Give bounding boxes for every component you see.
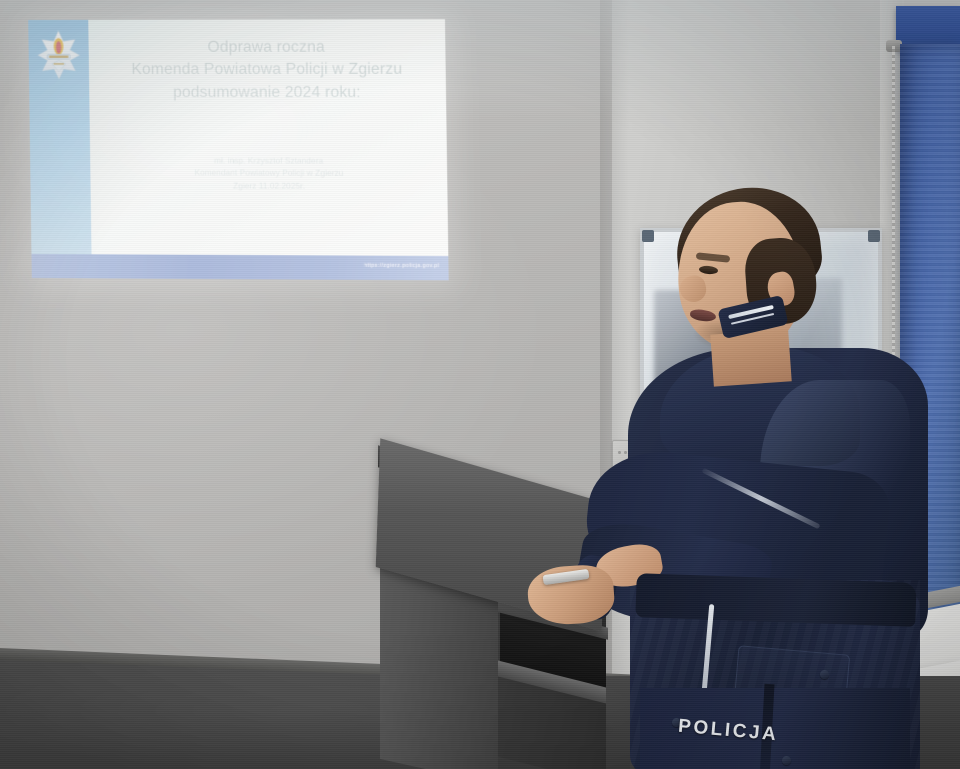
slide-footer-url: https://zgierz.policja.gov.pl [364,263,440,269]
slide-content-area: Odprawa roczna Komenda Powiatowa Policji… [88,19,448,256]
polish-police-star-badge-icon [36,30,81,80]
projected-slide: Odprawa roczna Komenda Powiatowa Policji… [28,19,448,280]
slide-title: Odprawa roczna Komenda Powiatowa Policji… [95,36,441,104]
slide-surface: Odprawa roczna Komenda Powiatowa Policji… [28,19,448,280]
slide-footer-bar: https://zgierz.policja.gov.pl [31,254,448,280]
officer-neck [710,329,791,386]
slide-body: Odprawa roczna Komenda Powiatowa Policji… [28,19,448,256]
trouser-button [820,670,829,679]
police-officer-presenter: POLICJA [500,180,920,769]
presentation-photo-scene: Odprawa roczna Komenda Powiatowa Policji… [0,0,960,769]
trouser-button [782,756,791,765]
slide-sidebar [28,20,91,254]
slide-footnote [111,216,437,217]
slide-subtitle: mł. insp. Krzysztof Sztandera Komendant … [100,155,439,193]
